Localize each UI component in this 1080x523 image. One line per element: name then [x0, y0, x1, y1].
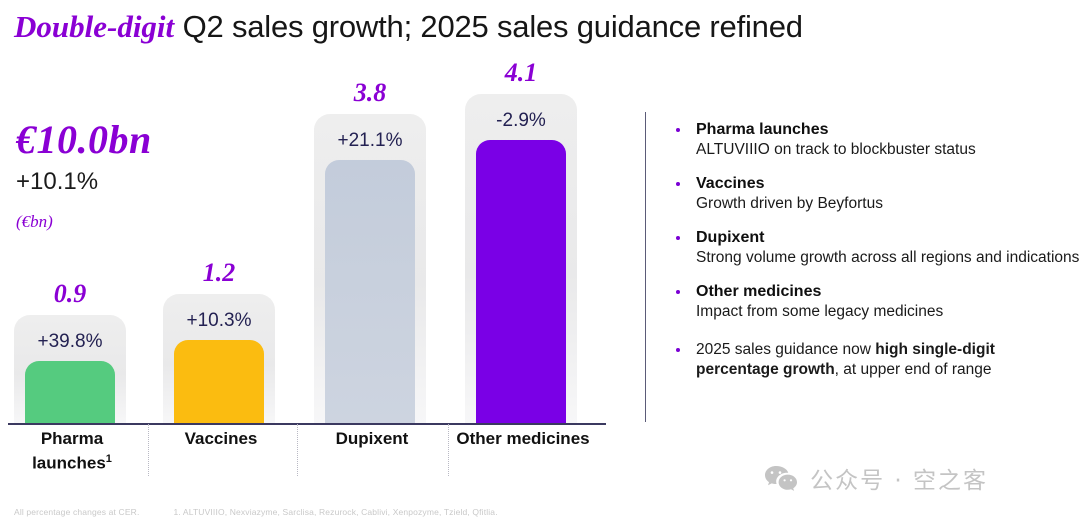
bar-track: +21.1% — [314, 114, 426, 423]
bar-growth-label: +10.3% — [163, 310, 275, 332]
bar-fill — [476, 140, 566, 423]
list-item: Vaccines Growth driven by Beyfortus — [668, 174, 1080, 214]
bar-track: +39.8% — [14, 315, 126, 423]
guidance-post: , at upper end of range — [835, 361, 992, 378]
list-item: Other medicines Impact from some legacy … — [668, 282, 1080, 322]
category-separator — [448, 424, 449, 476]
bullet-dot-icon — [676, 182, 680, 186]
bullet-detail: Growth driven by Beyfortus — [696, 194, 1080, 214]
bar-track: -2.9% — [465, 94, 577, 423]
bar-growth-label: -2.9% — [465, 110, 577, 132]
bar-value-label: 1.2 — [163, 258, 275, 288]
bullet-dot-icon — [676, 348, 680, 352]
bullet-heading: Dupixent — [696, 228, 1080, 248]
footnote-cer-note: All percentage changes at CER. — [14, 507, 139, 517]
page-title: Double-digit Q2 sales growth; 2025 sales… — [14, 4, 803, 50]
bar-value-label: 4.1 — [465, 58, 577, 88]
category-label-pharma-launches: Pharma launches1 — [2, 428, 142, 474]
bar-growth-label: +39.8% — [14, 331, 126, 353]
category-label-other-medicines: Other medicines — [453, 428, 593, 449]
bullet-heading: Pharma launches — [696, 120, 1080, 140]
bar-growth-label: +21.1% — [314, 130, 426, 152]
list-item: Pharma launches ALTUVIIIO on track to bl… — [668, 120, 1080, 160]
bullet-dot-icon — [676, 290, 680, 294]
title-accent: Double-digit — [14, 9, 174, 44]
bullet-heading: Vaccines — [696, 174, 1080, 194]
vertical-divider — [645, 112, 646, 422]
category-separator — [297, 424, 298, 476]
title-rest: Q2 sales growth; 2025 sales guidance ref… — [174, 9, 803, 44]
bullet-dot-icon — [676, 128, 680, 132]
bar-chart: 0.9 +39.8% 1.2 +10.3% 3.8 +21.1% 4.1 -2.… — [0, 100, 620, 425]
category-label-text: Pharma launches — [32, 429, 106, 473]
bar-value-label: 0.9 — [14, 279, 126, 309]
watermark-text: 公众号 · 空之客 — [810, 461, 988, 495]
bar-value-label: 3.8 — [314, 78, 426, 108]
slide-root: Double-digit Q2 sales growth; 2025 sales… — [0, 0, 1080, 523]
footnote-marker: 1 — [106, 453, 112, 465]
chart-baseline — [8, 423, 606, 425]
category-label-dupixent: Dupixent — [302, 428, 442, 449]
bar-fill — [174, 340, 264, 423]
footnote-brand-list: 1. ALTUVIIIO, Nexviazyme, Sarclisa, Rezu… — [173, 507, 497, 517]
bar-fill — [25, 361, 115, 423]
category-separator — [148, 424, 149, 476]
guidance-pre: 2025 sales guidance now — [696, 341, 875, 358]
bullet-detail: ALTUVIIIO on track to blockbuster status — [696, 140, 1080, 160]
category-label-vaccines: Vaccines — [151, 428, 291, 449]
footnote: All percentage changes at CER.1. ALTUVII… — [14, 507, 498, 517]
bar-fill — [325, 160, 415, 423]
highlights-list: Pharma launches ALTUVIIIO on track to bl… — [668, 120, 1080, 394]
list-item: Dupixent Strong volume growth across all… — [668, 228, 1080, 268]
bullet-detail: Strong volume growth across all regions … — [696, 248, 1080, 268]
watermark: 公众号 · 空之客 — [764, 461, 988, 495]
wechat-icon — [764, 465, 798, 492]
guidance-text: 2025 sales guidance now high single-digi… — [696, 340, 1080, 380]
bullet-detail: Impact from some legacy medicines — [696, 302, 1080, 322]
list-item-guidance: 2025 sales guidance now high single-digi… — [668, 340, 1080, 380]
bar-track: +10.3% — [163, 294, 275, 423]
bullet-heading: Other medicines — [696, 282, 1080, 302]
bullet-dot-icon — [676, 236, 680, 240]
